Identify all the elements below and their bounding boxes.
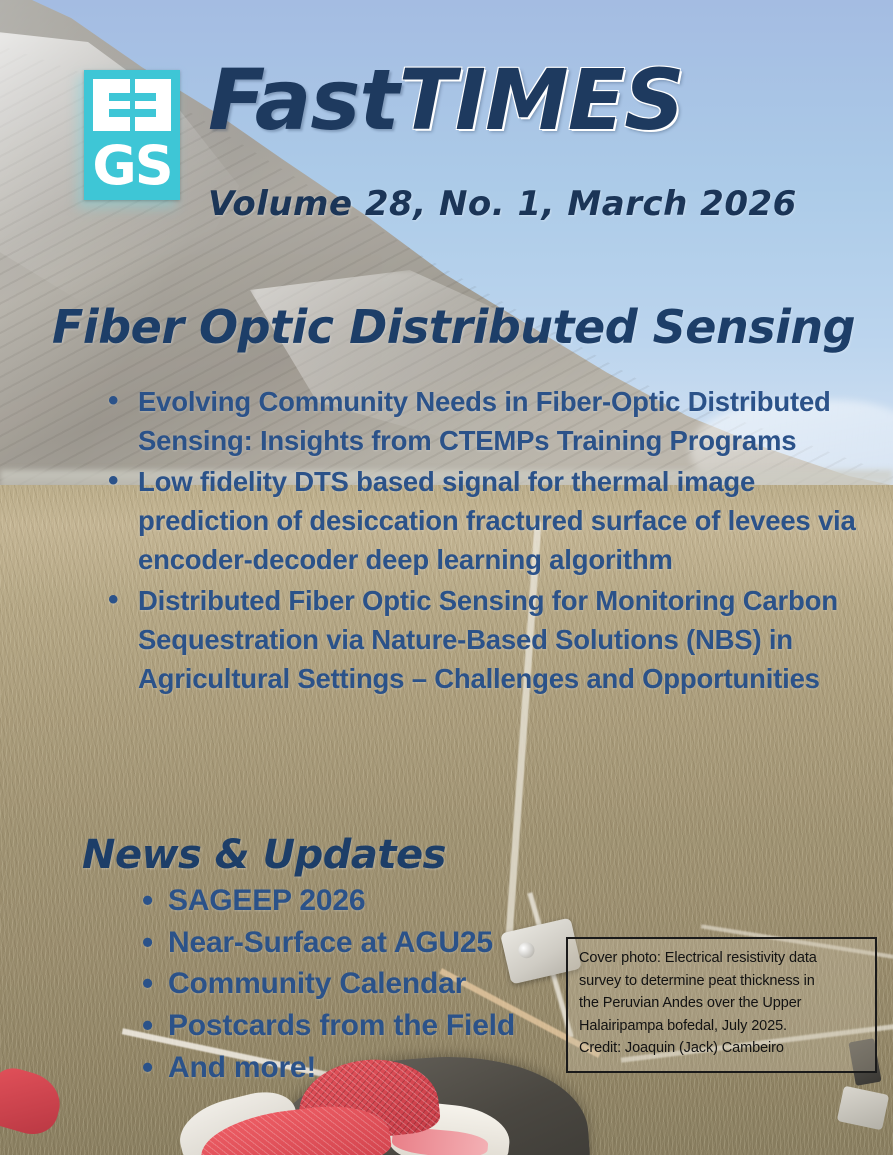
- news-list-item[interactable]: SAGEEP 2026: [168, 880, 515, 922]
- feature-article-list: Evolving Community Needs in Fiber-Optic …: [100, 382, 878, 700]
- magazine-cover: GS FastTIMES Volume 28, No. 1, March 202…: [0, 0, 893, 1155]
- feature-article-item[interactable]: Low fidelity DTS based signal for therma…: [138, 462, 878, 579]
- eegs-logo[interactable]: GS: [84, 70, 182, 202]
- cover-photo-credit-box: Cover photo: Electrical resistivity data…: [566, 937, 877, 1073]
- logo-letter-e-reversed: [135, 79, 172, 131]
- news-list-item[interactable]: Near-Surface at AGU25: [168, 922, 515, 964]
- news-list-item[interactable]: Postcards from the Field: [168, 1005, 515, 1047]
- news-list-item[interactable]: Community Calendar: [168, 963, 515, 1005]
- logo-double-e-icon: [93, 79, 171, 131]
- credit-line: Credit: Joaquin (Jack) Cambeiro: [579, 1037, 865, 1060]
- feature-section-title: Fiber Optic Distributed Sensing: [52, 300, 855, 354]
- logo-letter-e-forward: [93, 79, 130, 131]
- logo-letters-gs: GS: [84, 132, 180, 200]
- masthead-fast: Fast: [208, 51, 399, 149]
- feature-article-item[interactable]: Distributed Fiber Optic Sensing for Moni…: [138, 581, 878, 698]
- credit-line: the Peruvian Andes over the Upper: [579, 992, 865, 1015]
- news-section-title: News & Updates: [82, 832, 446, 878]
- logo-box: GS: [84, 70, 180, 200]
- credit-line: Cover photo: Electrical resistivity data: [579, 947, 865, 970]
- masthead-times: TIMES: [399, 51, 684, 149]
- credit-line: Halairipampa bofedal, July 2025.: [579, 1015, 865, 1038]
- credit-line: survey to determine peat thickness in: [579, 970, 865, 993]
- news-item-list: SAGEEP 2026 Near-Surface at AGU25 Commun…: [140, 880, 515, 1088]
- volume-issue-date: Volume 28, No. 1, March 2026: [208, 184, 797, 224]
- news-list-item[interactable]: And more!: [168, 1047, 515, 1089]
- feature-article-item[interactable]: Evolving Community Needs in Fiber-Optic …: [138, 382, 878, 460]
- masthead-title: FastTIMES: [208, 58, 684, 142]
